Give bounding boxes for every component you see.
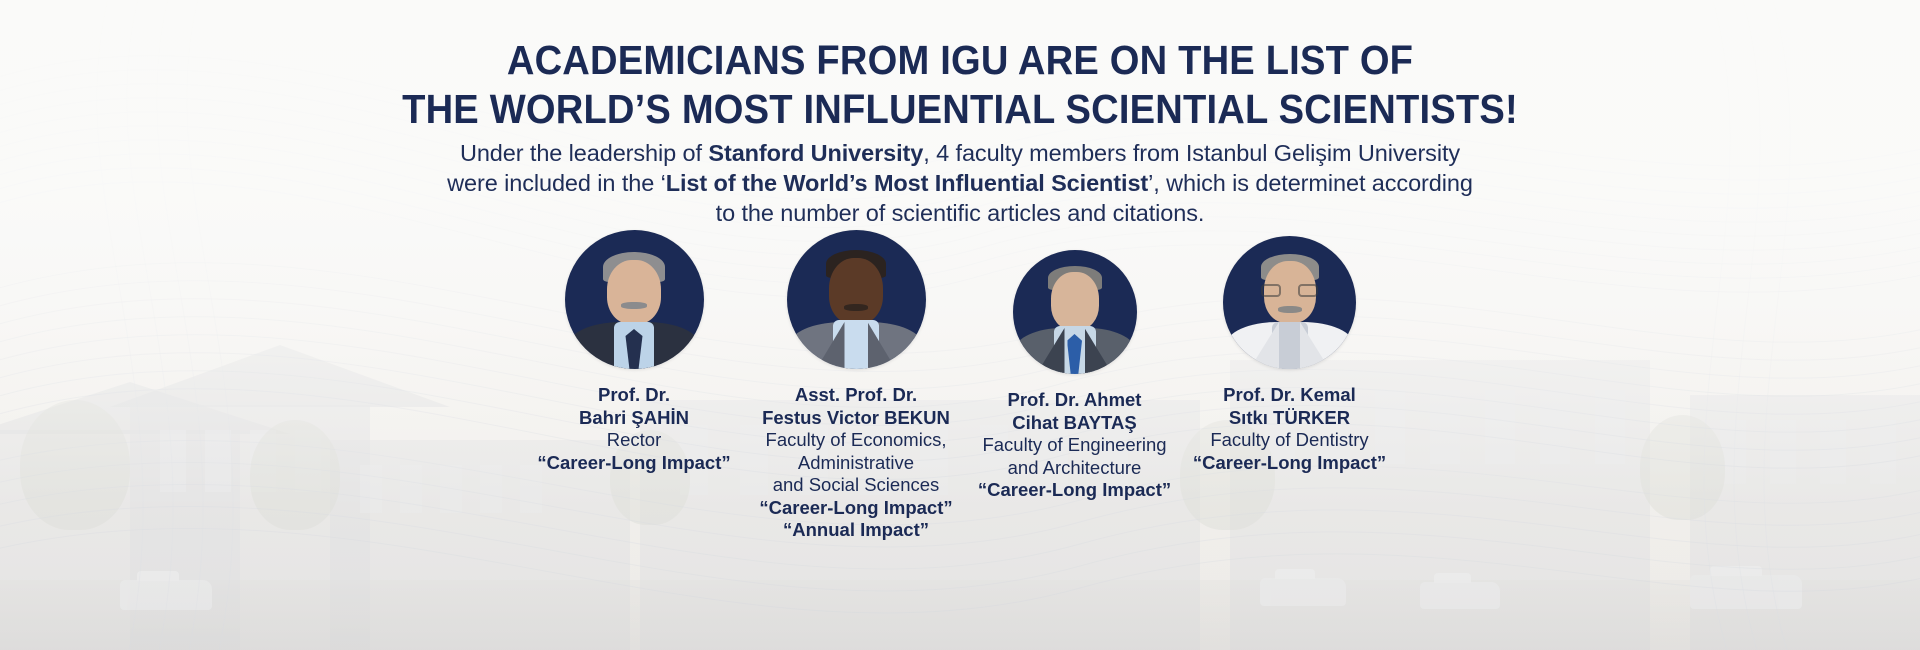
subtitle-text: were included in the ‘ <box>447 170 666 196</box>
caption-line: Prof. Dr. Kemal <box>1182 384 1397 407</box>
head <box>829 258 883 324</box>
caption-line: Cihat BAYTAŞ <box>967 412 1182 435</box>
subtitle-line-2: were included in the ‘List of the World’… <box>0 168 1920 198</box>
announcement-banner: ACADEMICIANS FROM IGU ARE ON THE LIST OF… <box>0 0 1920 650</box>
caption-line: Faculty of Economics, <box>745 429 967 452</box>
caption-line: “Career-Long Impact” <box>967 479 1182 502</box>
head <box>1051 272 1099 330</box>
subtitle-line-3: to the number of scientific articles and… <box>0 198 1920 228</box>
caption-1: Prof. Dr. Bahri ŞAHİN Rector “Career-Lon… <box>523 384 745 474</box>
caption-line: Prof. Dr. <box>523 384 745 407</box>
caption-3: Prof. Dr. Ahmet Cihat BAYTAŞ Faculty of … <box>967 389 1182 502</box>
scientist-card-2: Asst. Prof. Dr. Festus Victor BEKUN Facu… <box>745 230 967 542</box>
moustache <box>1278 306 1302 313</box>
subtitle-text: , 4 faculty members from Istanbul Gelişi… <box>923 140 1460 166</box>
caption-line: Faculty of Dentistry <box>1182 429 1397 452</box>
head <box>607 260 661 324</box>
caption-line: Faculty of Engineering <box>967 434 1182 457</box>
eyeglasses-left-lens <box>1261 284 1281 297</box>
beard <box>844 304 868 311</box>
scientist-card-4: Prof. Dr. Kemal Sıtkı TÜRKER Faculty of … <box>1182 236 1397 474</box>
scientists-row: Prof. Dr. Bahri ŞAHİN Rector “Career-Lon… <box>0 225 1920 542</box>
moustache <box>621 302 647 309</box>
banner-title-line-1: ACADEMICIANS FROM IGU ARE ON THE LIST OF <box>507 37 1413 83</box>
subtitle-line-1: Under the leadership of Stanford Univers… <box>0 138 1920 168</box>
subtitle-text: ’, which is determinet according <box>1148 170 1473 196</box>
caption-line: Prof. Dr. Ahmet <box>967 389 1182 412</box>
caption-line: “Career-Long Impact” <box>745 497 967 520</box>
eyeglasses-right-lens <box>1298 284 1318 297</box>
caption-line: and Architecture <box>967 457 1182 480</box>
subtitle-text: Under the leadership of <box>460 140 708 166</box>
avatar-bahri-sahin <box>565 230 704 369</box>
caption-line: “Career-Long Impact” <box>523 452 745 475</box>
scientist-card-3: Prof. Dr. Ahmet Cihat BAYTAŞ Faculty of … <box>967 250 1182 502</box>
stanford-university-emphasis: Stanford University <box>708 140 923 166</box>
banner-subtitle: Under the leadership of Stanford Univers… <box>0 138 1920 228</box>
caption-line: Bahri ŞAHİN <box>523 407 745 430</box>
caption-4: Prof. Dr. Kemal Sıtkı TÜRKER Faculty of … <box>1182 384 1397 474</box>
caption-line: Administrative <box>745 452 967 475</box>
caption-line: “Career-Long Impact” <box>1182 452 1397 475</box>
caption-line: Festus Victor BEKUN <box>745 407 967 430</box>
caption-line: Rector <box>523 429 745 452</box>
avatar-ahmet-cihat-baytas <box>1013 250 1137 374</box>
avatar-kemal-sitki-turker <box>1223 236 1356 369</box>
scientist-card-1: Prof. Dr. Bahri ŞAHİN Rector “Career-Lon… <box>523 230 745 474</box>
caption-2: Asst. Prof. Dr. Festus Victor BEKUN Facu… <box>745 384 967 542</box>
avatar-festus-victor-bekun <box>787 230 926 369</box>
caption-line: “Annual Impact” <box>745 519 967 542</box>
caption-line: Sıtkı TÜRKER <box>1182 407 1397 430</box>
banner-title-line-2: THE WORLD’S MOST INFLUENTIAL SCIENTIAL S… <box>67 85 1853 134</box>
list-title-emphasis: List of the World’s Most Influential Sci… <box>666 170 1148 196</box>
caption-line: and Social Sciences <box>745 474 967 497</box>
banner-title: ACADEMICIANS FROM IGU ARE ON THE LIST OF… <box>67 36 1853 134</box>
caption-line: Asst. Prof. Dr. <box>745 384 967 407</box>
